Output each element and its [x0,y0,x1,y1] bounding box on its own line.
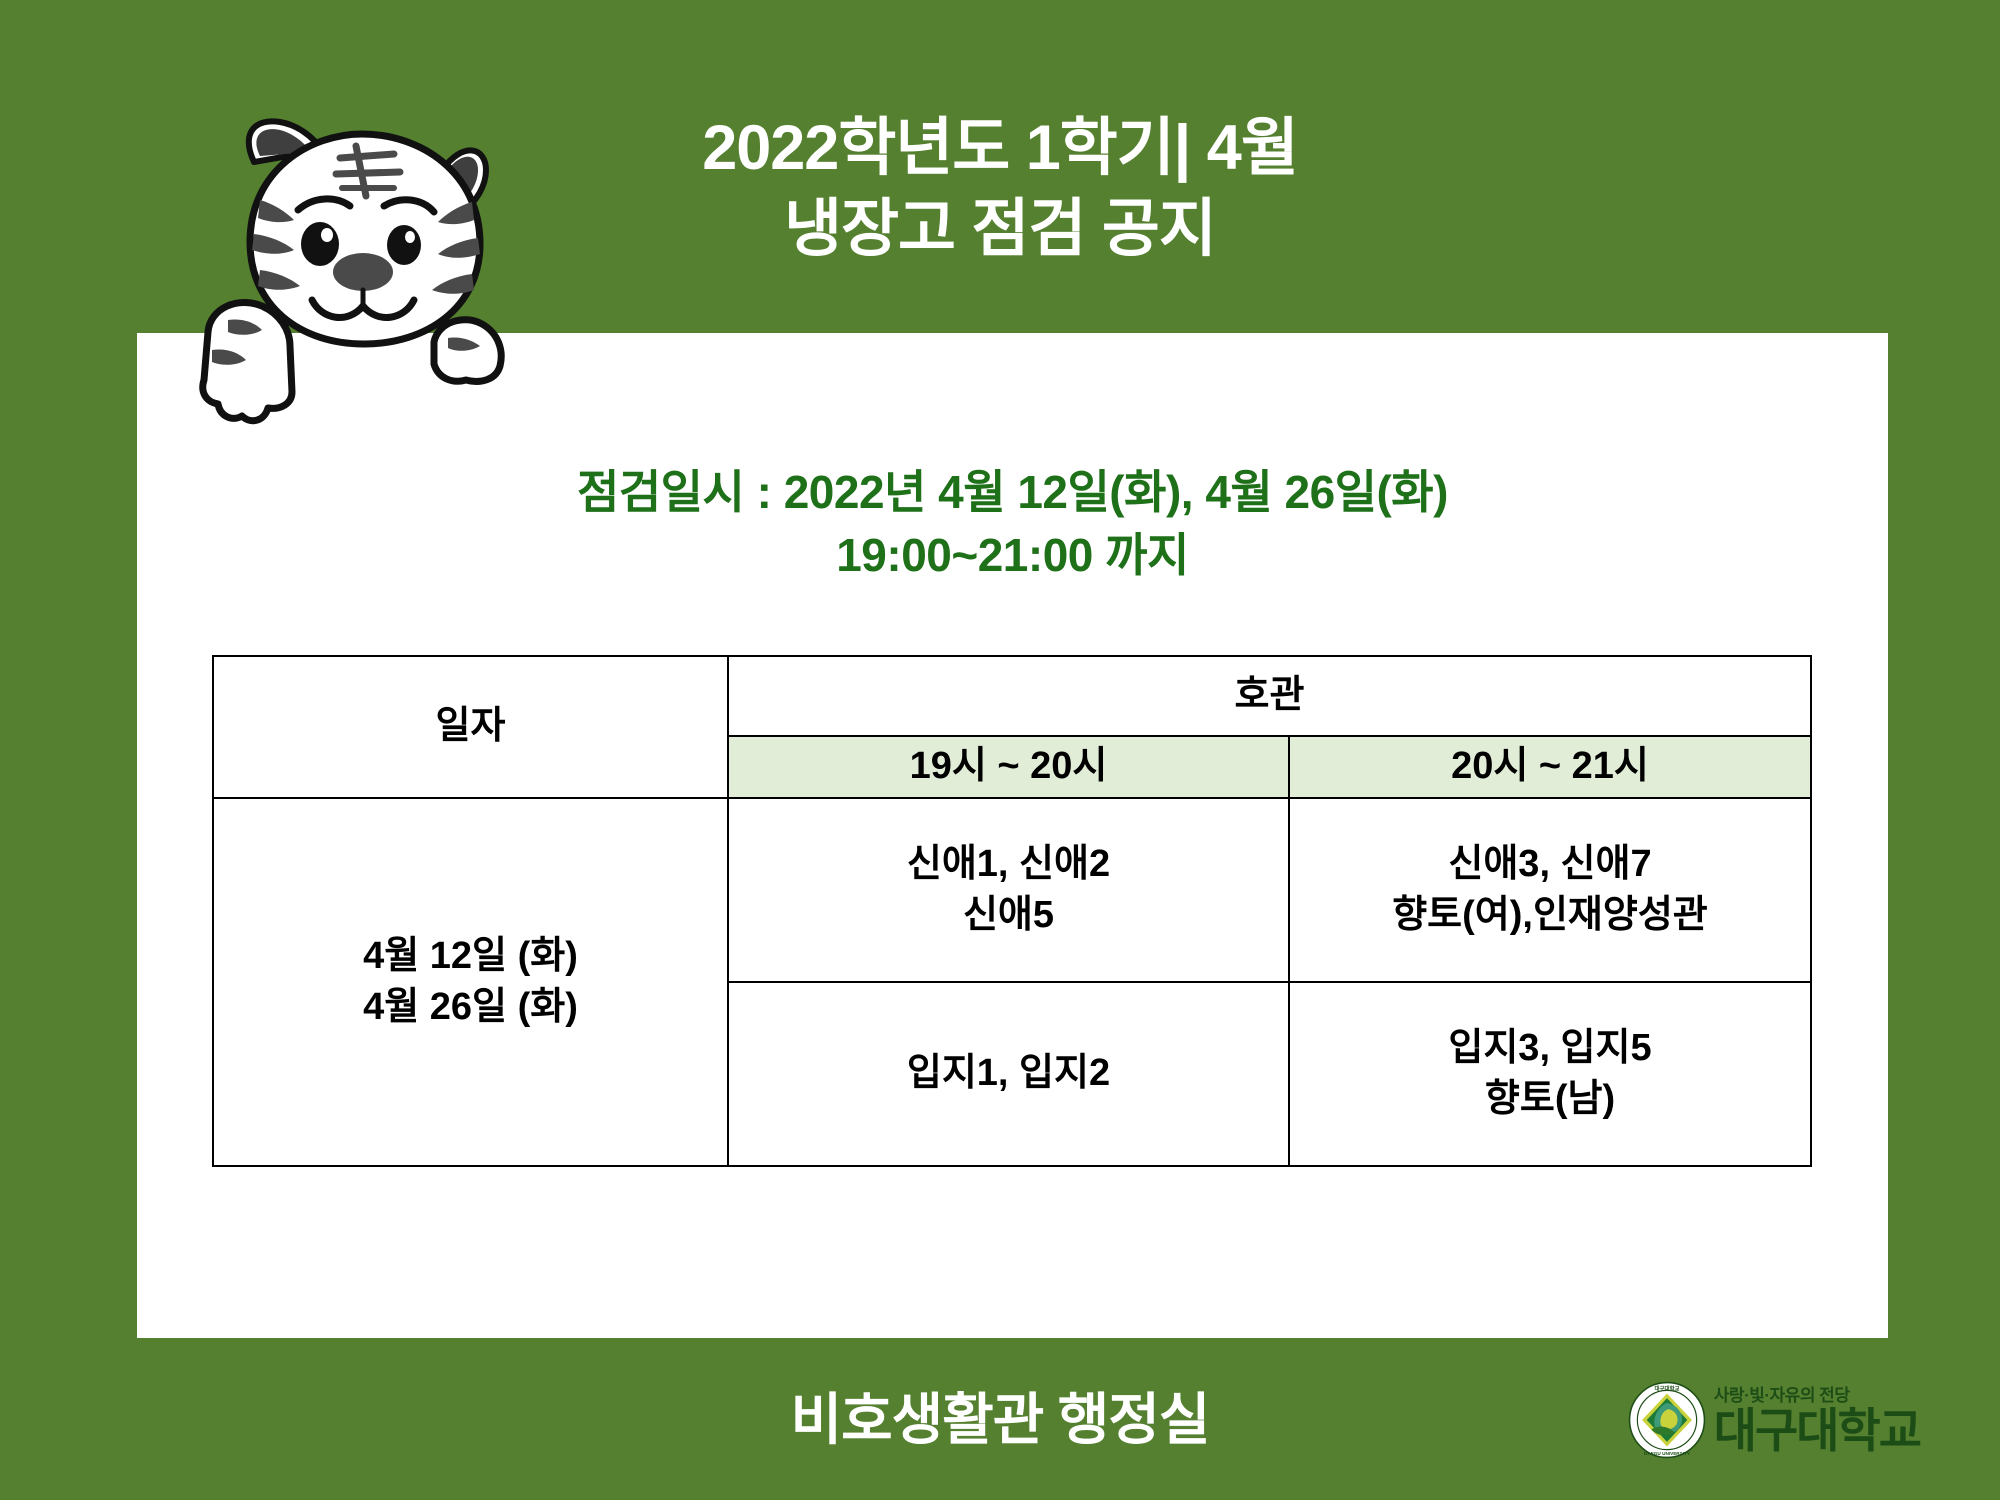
header-cell-group: 호관 [728,656,1811,736]
cell-row2-slot1: 입지1, 입지2 [728,982,1289,1166]
cell-date-range: 4월 12일 (화) 4월 26일 (화) [213,798,728,1166]
header-cell-date: 일자 [213,656,728,798]
inspection-datetime-line-2: 19:00~21:00 까지 [137,524,1888,587]
cell-row1-slot2: 신애3, 신애7 향토(여),인재양성관 [1289,798,1811,982]
inspection-datetime: 점검일시 : 2022년 4월 12일(화), 4월 26일(화) 19:00~… [137,461,1888,588]
header-cell-slot2: 20시 ~ 21시 [1289,736,1811,798]
table-row: 4월 12일 (화) 4월 26일 (화) 신애1, 신애2 신애5 신애3, … [213,798,1811,982]
logo-wordmark: 사랑·빛·자유의 전당 대구대학교 [1714,1387,1920,1454]
date-line-2: 4월 26일 (화) [214,982,727,1033]
daegu-university-emblem-icon: 대구대학교 DAEGU UNIVERSITY [1628,1381,1706,1459]
white-tiger-mascot-icon [180,92,510,442]
cell-row1-slot1: 신애1, 신애2 신애5 [728,798,1289,982]
cell-text-line: 신애3, 신애7 [1290,839,1810,890]
content-card: 점검일시 : 2022년 4월 12일(화), 4월 26일(화) 19:00~… [137,333,1888,1338]
schedule-table: 일자 호관 19시 ~ 20시 20시 ~ 21시 4월 12일 (화) 4월 … [212,655,1812,1167]
header-cell-slot1: 19시 ~ 20시 [728,736,1289,798]
emblem-ring-text-en: DAEGU UNIVERSITY [1644,1451,1691,1456]
cell-row2-slot2: 입지3, 입지5 향토(남) [1289,982,1811,1166]
cell-text-line: 향토(여),인재양성관 [1290,890,1810,941]
logo-tagline: 사랑·빛·자유의 전당 [1714,1387,1920,1404]
inspection-datetime-line-1: 점검일시 : 2022년 4월 12일(화), 4월 26일(화) [137,461,1888,524]
cell-text-line: 입지3, 입지5 [1290,1023,1810,1074]
cell-text-line: 향토(남) [1290,1074,1810,1125]
logo-university-name: 대구대학교 [1714,1407,1920,1454]
university-logo: 대구대학교 DAEGU UNIVERSITY 사랑·빛·자유의 전당 대구대학교 [1628,1372,1920,1468]
table-header-row-group: 일자 호관 [213,656,1811,736]
cell-text-line: 입지1, 입지2 [729,1048,1288,1099]
cell-text-line: 신애5 [729,890,1288,941]
poster-canvas: 2022학년도 1학기| 4월 냉장고 점검 공지 점검일시 : 2022년 4… [0,0,2000,1500]
cell-text-line: 신애1, 신애2 [729,839,1288,890]
date-line-1: 4월 12일 (화) [214,931,727,982]
